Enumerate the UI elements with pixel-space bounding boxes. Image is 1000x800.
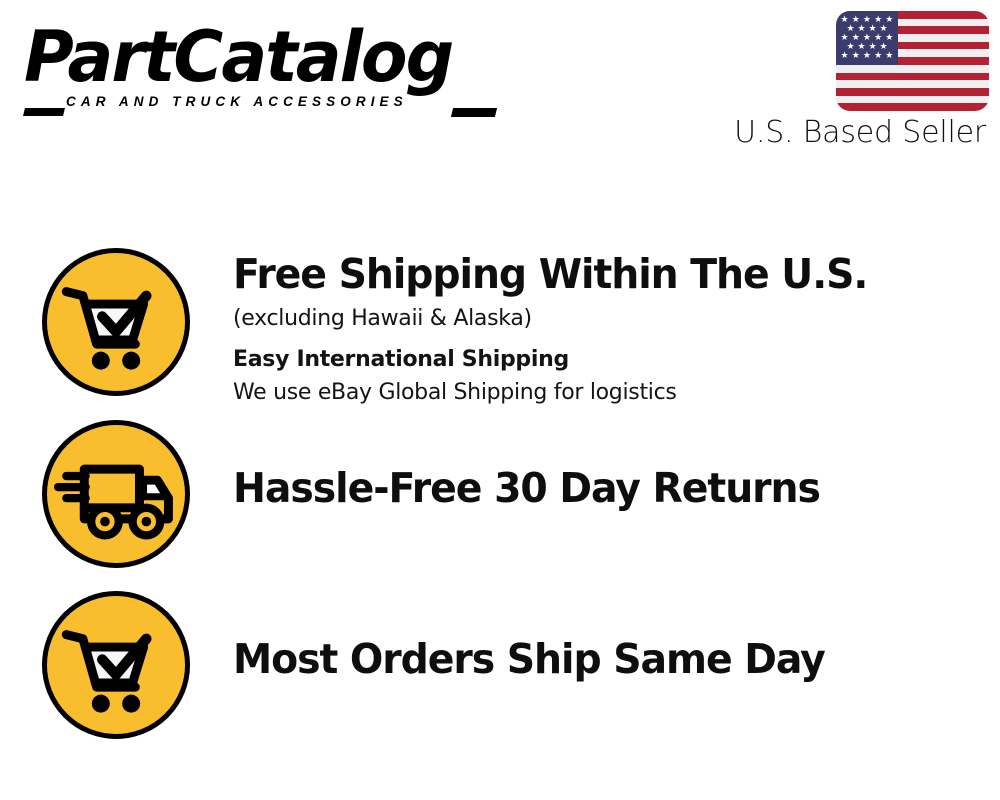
feature-heading: Most Orders Ship Same Day	[233, 635, 825, 683]
brand-logo: PartCatalog CAR AND TRUCK ACCESSORIES	[24, 22, 494, 112]
feature-row: Hassle-Free 30 Day Returns	[42, 420, 982, 568]
feature-subtext-international-title: Easy International Shipping	[233, 344, 894, 375]
shopping-cart-check-icon	[42, 591, 190, 739]
feature-row: Most Orders Ship Same Day	[42, 591, 982, 739]
flag-canton: ★★★★★ ★★★★ ★★★★★ ★★★★ ★★★★★	[836, 11, 898, 65]
feature-text-block: Free Shipping Within The U.S. (excluding…	[190, 248, 894, 408]
delivery-truck-icon	[42, 420, 190, 568]
feature-text-block: Most Orders Ship Same Day	[190, 591, 849, 683]
us-based-seller-label: U.S. Based Seller	[0, 115, 1000, 151]
feature-heading: Hassle-Free 30 Day Returns	[233, 464, 820, 512]
shopping-cart-check-icon	[42, 248, 190, 396]
brand-wordmark: PartCatalog	[24, 22, 480, 92]
feature-subtext-exclusions: (excluding Hawaii & Alaska)	[233, 303, 894, 334]
feature-heading: Free Shipping Within The U.S.	[233, 250, 867, 298]
feature-row: Free Shipping Within The U.S. (excluding…	[42, 248, 982, 408]
us-flag-icon: ★★★★★ ★★★★ ★★★★★ ★★★★ ★★★★★	[836, 11, 989, 111]
feature-subtext-international-detail: We use eBay Global Shipping for logistic…	[233, 377, 894, 408]
feature-text-block: Hassle-Free 30 Day Returns	[190, 420, 844, 512]
